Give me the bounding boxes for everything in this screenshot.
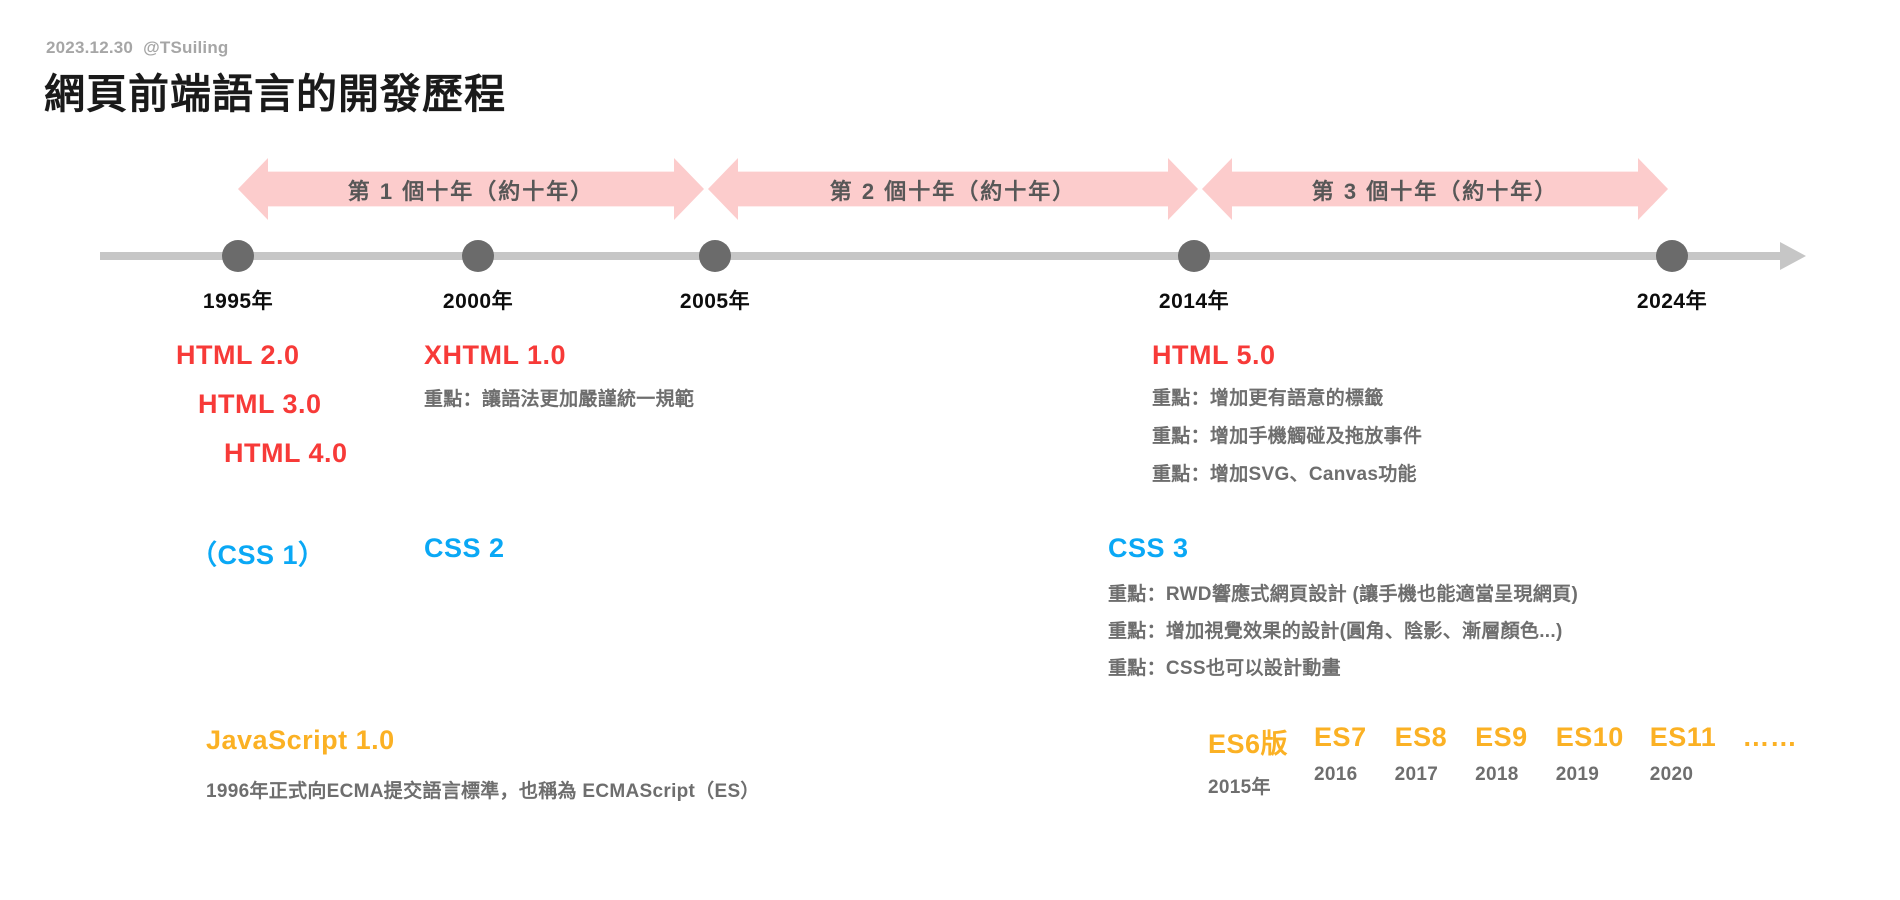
css3-note: 重點：RWD響應式網頁設計 (讓手機也能適當呈現網頁) <box>1108 579 1578 606</box>
es-item: ES8 2017 <box>1395 722 1448 786</box>
css2-title: CSS 2 <box>424 533 505 564</box>
html5-note: 重點：增加更有語意的標籤 <box>1152 383 1384 410</box>
es-version-name: ES8 <box>1395 722 1448 753</box>
es-item-more: …… <box>1742 722 1797 764</box>
html5-title: HTML 5.0 <box>1152 340 1276 371</box>
es-item: ES6版 2015年 <box>1208 722 1288 799</box>
css3-title: CSS 3 <box>1108 533 1189 564</box>
javascript-note: 1996年正式向ECMA提交語言標準，也稱為 ECMAScript（ES） <box>206 776 760 803</box>
es-version-name: …… <box>1742 722 1797 753</box>
es-version-name: ES7 <box>1314 722 1367 753</box>
es-version-name: ES6版 <box>1208 722 1288 761</box>
javascript-title: JavaScript 1.0 <box>206 725 395 756</box>
css3-note: 重點：CSS也可以設計動畫 <box>1108 653 1341 680</box>
es-version-year: 2017 <box>1395 764 1438 786</box>
es-version-year: 2019 <box>1556 764 1599 786</box>
es-version-name: ES9 <box>1475 722 1528 753</box>
es-version-year: 2020 <box>1650 764 1693 786</box>
xhtml-note: 重點：讓語法更加嚴謹統一規範 <box>424 384 694 411</box>
html5-note: 重點：增加手機觸碰及拖放事件 <box>1152 421 1422 448</box>
es-version-year: 2015年 <box>1208 772 1271 799</box>
content-layer: HTML 2.0 HTML 3.0 HTML 4.0 XHTML 1.0 重點：… <box>0 0 1900 900</box>
html-version-4: HTML 4.0 <box>224 438 348 469</box>
es-version-row: ES6版 2015年 ES7 2016 ES8 2017 ES9 2018 ES… <box>1208 722 1797 799</box>
es-item: ES7 2016 <box>1314 722 1367 786</box>
xhtml-title: XHTML 1.0 <box>424 340 566 371</box>
es-version-year: 2018 <box>1475 764 1518 786</box>
css3-note: 重點：增加視覺效果的設計(圓角、陰影、漸層顏色...) <box>1108 616 1563 643</box>
css1-title: （CSS 1） <box>190 533 326 572</box>
es-item: ES9 2018 <box>1475 722 1528 786</box>
html5-note: 重點：增加SVG、Canvas功能 <box>1152 459 1417 486</box>
es-version-name: ES10 <box>1556 722 1624 753</box>
html-version-2: HTML 2.0 <box>176 340 300 371</box>
html-version-3: HTML 3.0 <box>198 389 322 420</box>
es-version-year: 2016 <box>1314 764 1357 786</box>
es-item: ES11 2020 <box>1650 722 1717 786</box>
es-item: ES10 2019 <box>1556 722 1624 786</box>
es-version-name: ES11 <box>1650 722 1717 753</box>
